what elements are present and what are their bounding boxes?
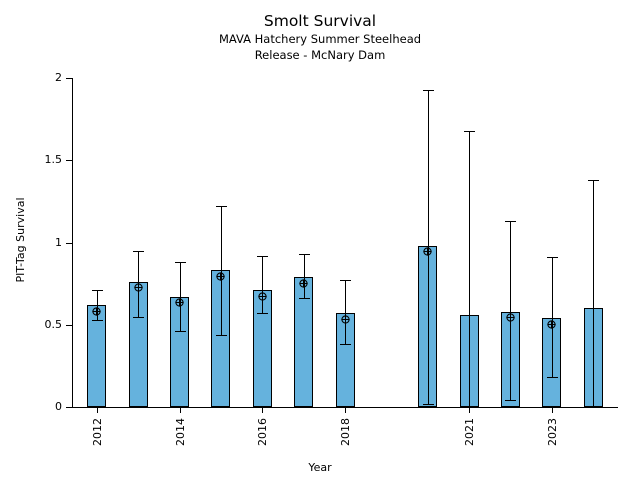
x-tick [345, 407, 346, 413]
y-tick-label: 2 [0, 71, 62, 84]
x-tick-label: 2021 [463, 418, 476, 446]
error-bar-cap-lower [133, 317, 144, 318]
circle-plus-marker-icon [134, 277, 143, 286]
error-bar-line [593, 180, 594, 407]
error-bar-cap-lower [175, 331, 186, 332]
y-tick [66, 160, 72, 161]
error-bar-cap-upper [216, 206, 227, 207]
error-bar-cap-upper [588, 180, 599, 181]
error-bar-cap-upper [92, 290, 103, 291]
chart-figure: Smolt Survival MAVA Hatchery Summer Stee… [0, 0, 640, 480]
x-tick-label: 2016 [256, 418, 269, 446]
circle-plus-marker-icon [216, 266, 225, 275]
circle-plus-marker-icon [299, 273, 308, 282]
y-tick-label: 0.5 [0, 318, 62, 331]
error-bar-cap-upper [257, 256, 268, 257]
x-tick [552, 407, 553, 413]
chart-title: Smolt Survival [0, 12, 640, 30]
error-bar-cap-lower [92, 320, 103, 321]
error-bar-cap-upper [175, 262, 186, 263]
chart-subtitle-1: MAVA Hatchery Summer Steelhead [0, 32, 640, 46]
y-tick [66, 407, 72, 408]
error-bar-cap-upper [299, 254, 310, 255]
error-bar-cap-lower [547, 377, 558, 378]
y-tick [66, 243, 72, 244]
error-bar-cap-upper [464, 131, 475, 132]
circle-plus-marker-icon [175, 292, 184, 301]
y-tick-label: 1.5 [0, 153, 62, 166]
y-tick-label: 1 [0, 236, 62, 249]
error-bar-cap-upper [133, 251, 144, 252]
error-bar-cap-upper [340, 280, 351, 281]
error-bar-line [469, 131, 470, 407]
x-tick-label: 2014 [174, 418, 187, 446]
error-bar-cap-lower [216, 335, 227, 336]
error-bar-cap-lower [340, 344, 351, 345]
x-tick [469, 407, 470, 413]
circle-plus-marker-icon [258, 286, 267, 295]
x-tick [97, 407, 98, 413]
error-bar-cap-lower [505, 400, 516, 401]
circle-plus-marker-icon [92, 301, 101, 310]
error-bar-cap-upper [505, 221, 516, 222]
error-bar-cap-upper [547, 257, 558, 258]
circle-plus-marker-icon [423, 241, 432, 250]
y-axis-line [72, 78, 73, 408]
error-bar-cap-lower [299, 298, 310, 299]
x-tick [180, 407, 181, 413]
circle-plus-marker-icon [506, 307, 515, 316]
x-tick-label: 2018 [339, 418, 352, 446]
y-tick [66, 325, 72, 326]
error-bar-line [262, 256, 263, 314]
chart-subtitle-2: Release - McNary Dam [0, 48, 640, 62]
x-tick [262, 407, 263, 413]
circle-plus-marker-icon [547, 314, 556, 323]
x-tick-label: 2012 [91, 418, 104, 446]
x-axis-title: Year [0, 461, 640, 474]
error-bar-cap-lower [423, 404, 434, 405]
error-bar-cap-lower [257, 313, 268, 314]
x-tick-label: 2023 [546, 418, 559, 446]
circle-plus-marker-icon [341, 309, 350, 318]
y-tick [66, 78, 72, 79]
y-tick-label: 0 [0, 400, 62, 413]
error-bar-cap-upper [423, 90, 434, 91]
